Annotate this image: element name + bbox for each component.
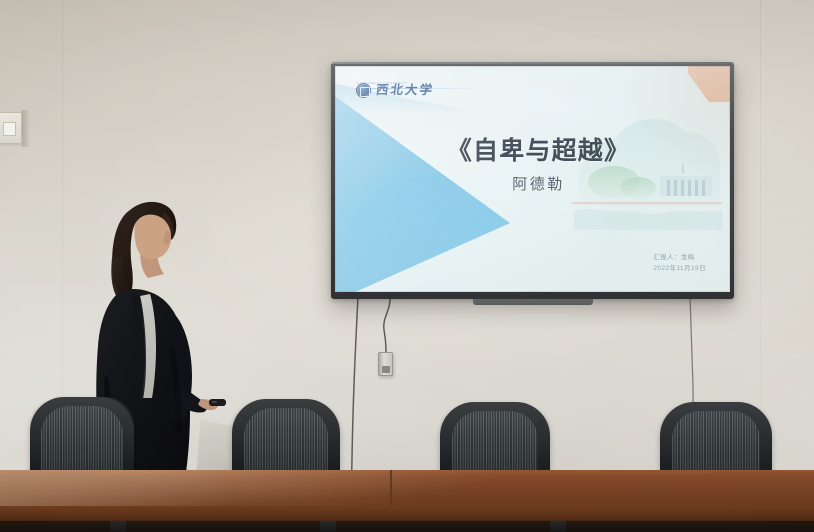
meeting-room-photo: 西北大学 NORTHWEST UNIVERSITY 《自卑与超越》 阿德勒 汇报… [0,0,814,532]
slide-credit-block: 汇报人：龙梅 2022年11月19日 [653,252,706,274]
slide-presenter-line: 汇报人：龙梅 [653,252,706,263]
table-leg [110,520,126,532]
slide-blue-wedge-shape [335,96,510,292]
wall-panel-seam-right [760,0,761,470]
slide-title: 《自卑与超越》 [347,138,730,166]
wall-panel-seam-left [62,0,63,420]
table-leg [550,520,566,532]
table-top-reflection [0,470,814,510]
slide-title-block: 《自卑与超越》 阿德勒 [335,138,730,194]
university-name-cn: 西北大学 [375,84,435,97]
slide-peach-corner-accent [688,66,730,102]
presentation-slide: 西北大学 NORTHWEST UNIVERSITY 《自卑与超越》 阿德勒 汇报… [335,66,730,292]
wall-socket-plate [0,112,22,144]
table-panel-seam [390,470,392,508]
tv-mount-bracket [473,299,593,305]
wall-power-box [378,352,393,376]
university-seal-icon [356,83,371,98]
slide-date-line: 2022年11月19日 [653,263,706,274]
conference-table [0,462,814,532]
slide-subtitle: 阿德勒 [347,173,730,194]
university-logo: 西北大学 [356,83,434,98]
wall-socket-trim [22,110,29,147]
wall-mounted-tv: 西北大学 NORTHWEST UNIVERSITY 《自卑与超越》 阿德勒 汇报… [331,62,734,299]
table-leg [320,520,336,532]
table-front-edge [0,506,814,521]
university-name-en: NORTHWEST UNIVERSITY [357,82,408,85]
